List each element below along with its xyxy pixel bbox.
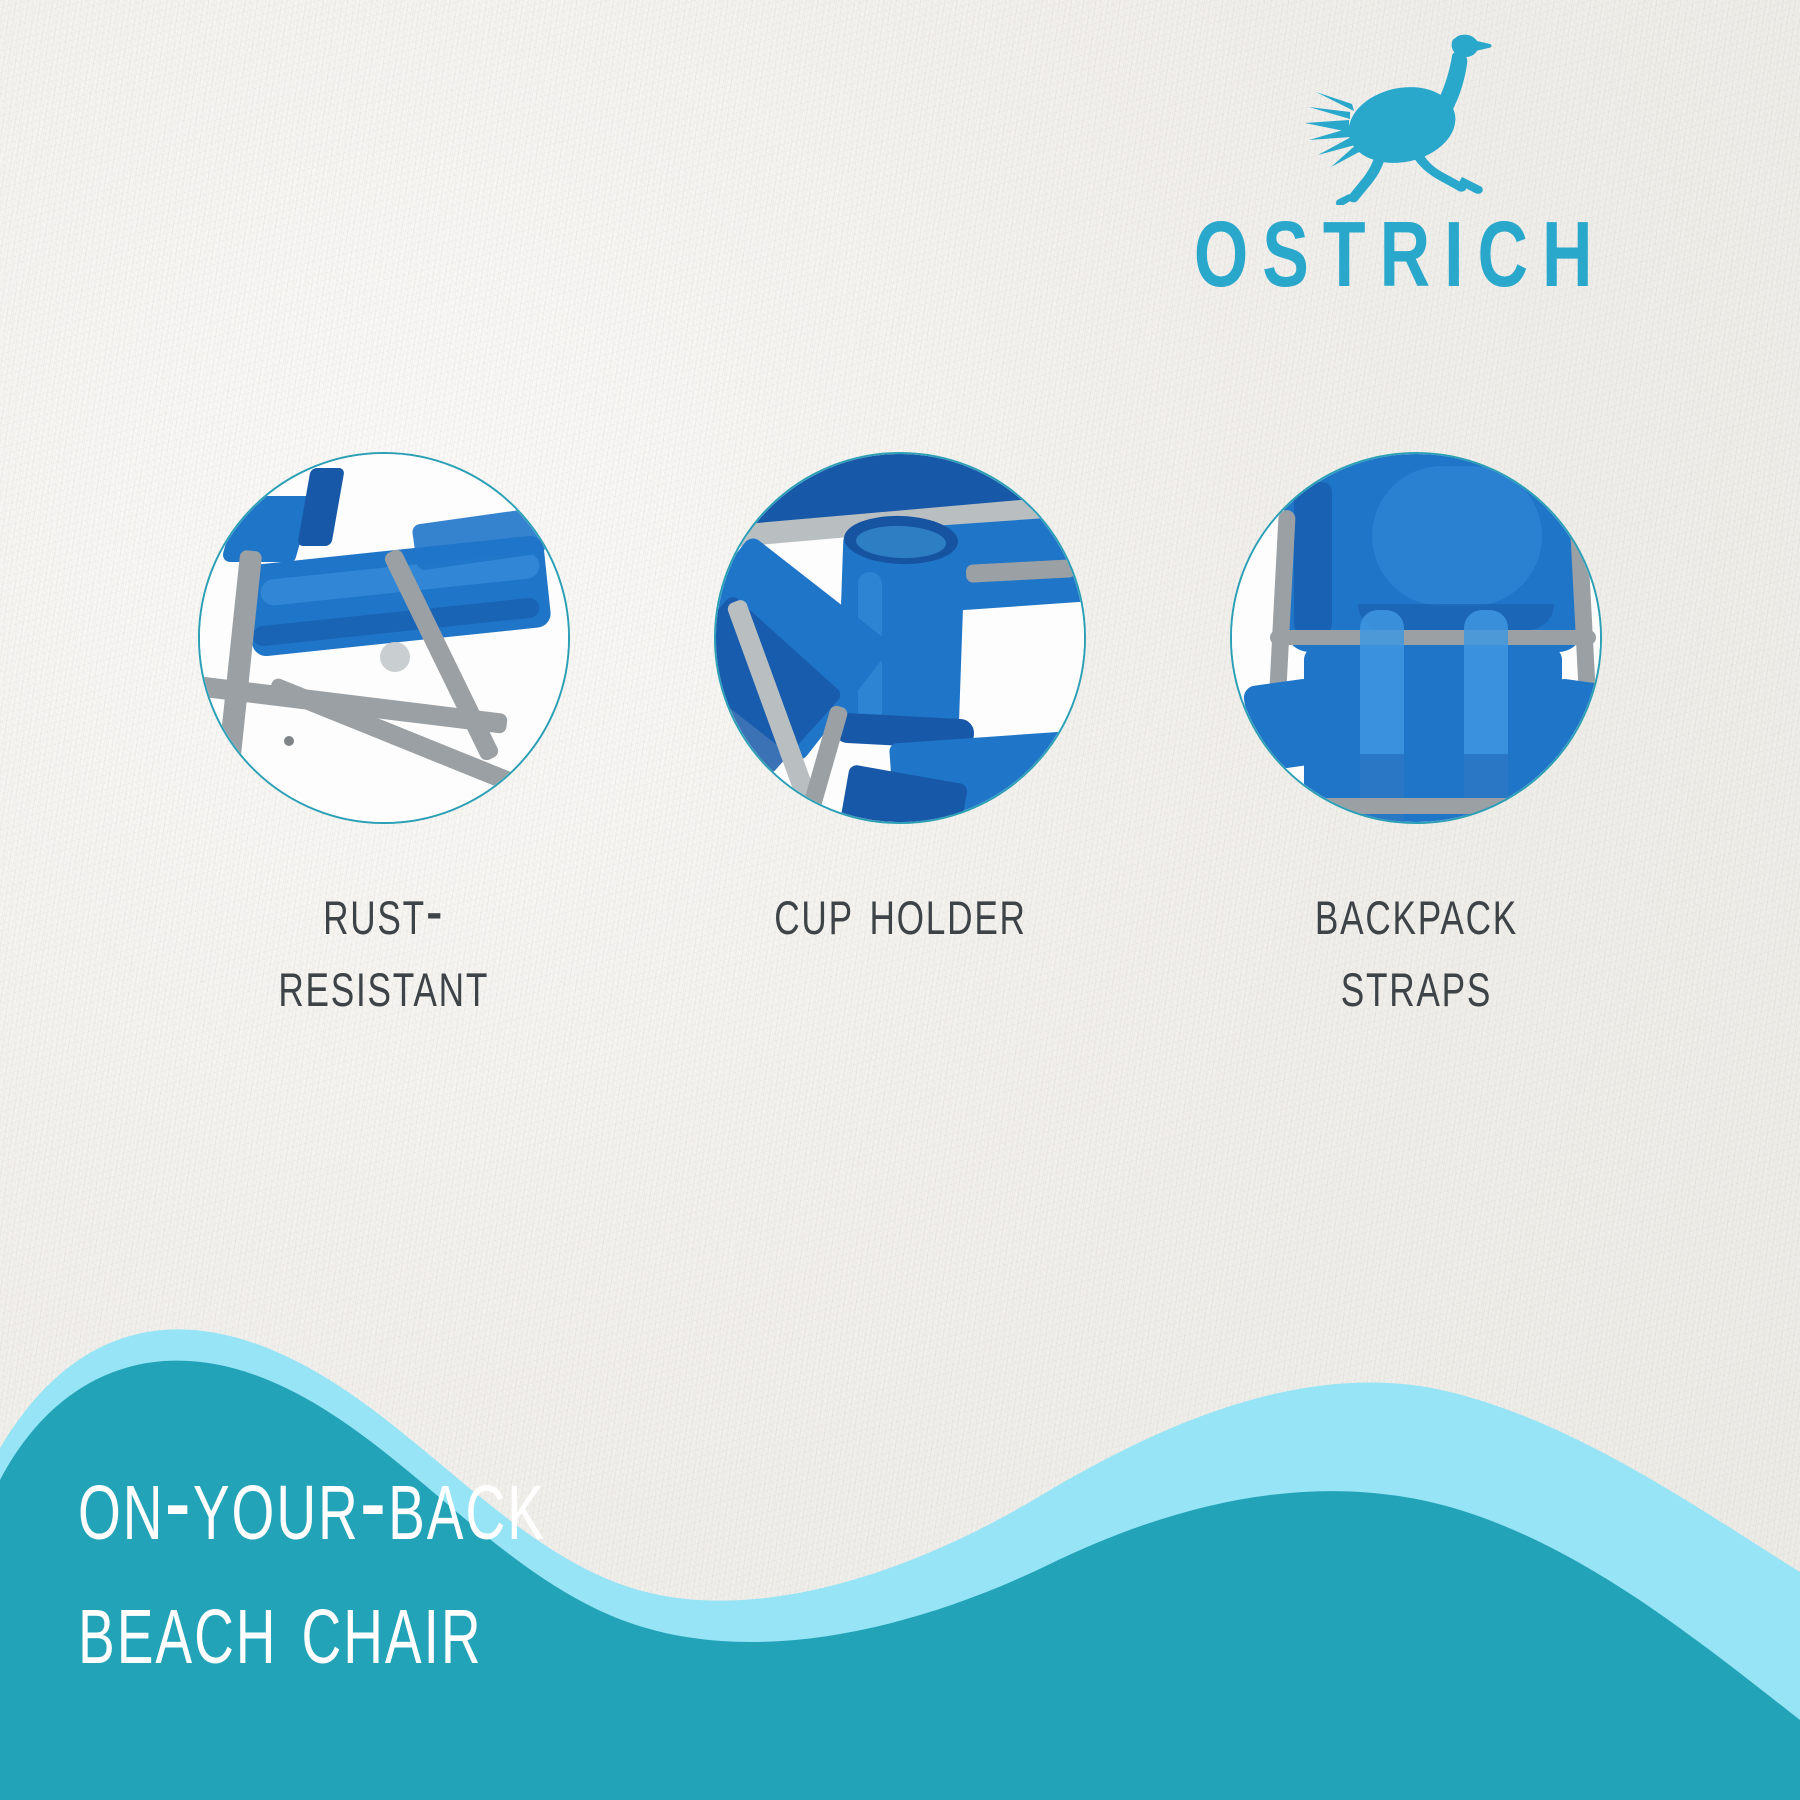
backpack-straps-photo-ring <box>1230 452 1602 824</box>
brand-logo: OSTRICH <box>1080 30 1720 300</box>
cup-holder-photo <box>716 454 1084 822</box>
backpack-straps-photo <box>1232 454 1600 822</box>
feature-label-backpack-straps: Backpack Straps <box>1314 876 1517 1020</box>
feature-label-rust-resistant: Rust- Resistant <box>279 876 490 1020</box>
cup-holder-photo-ring <box>714 452 1086 824</box>
feature-label-cup-holder: Cup Holder <box>774 876 1027 948</box>
brand-wordmark: OSTRICH <box>1194 209 1607 302</box>
rust-resistant-photo-ring <box>198 452 570 824</box>
bottom-wave-banner: On-Your-Back Beach Chair <box>0 1180 1800 1800</box>
feature-card-cup-holder: Cup Holder <box>700 452 1100 937</box>
banner-headline: On-Your-Back Beach Chair <box>78 1441 546 1688</box>
rust-resistant-frame-photo <box>200 454 568 822</box>
feature-highlights-row: Rust- Resistant <box>0 452 1800 998</box>
feature-card-backpack-straps: Backpack Straps <box>1216 452 1616 998</box>
feature-card-rust-resistant: Rust- Resistant <box>184 452 584 998</box>
ostrich-bird-icon <box>1290 30 1510 205</box>
